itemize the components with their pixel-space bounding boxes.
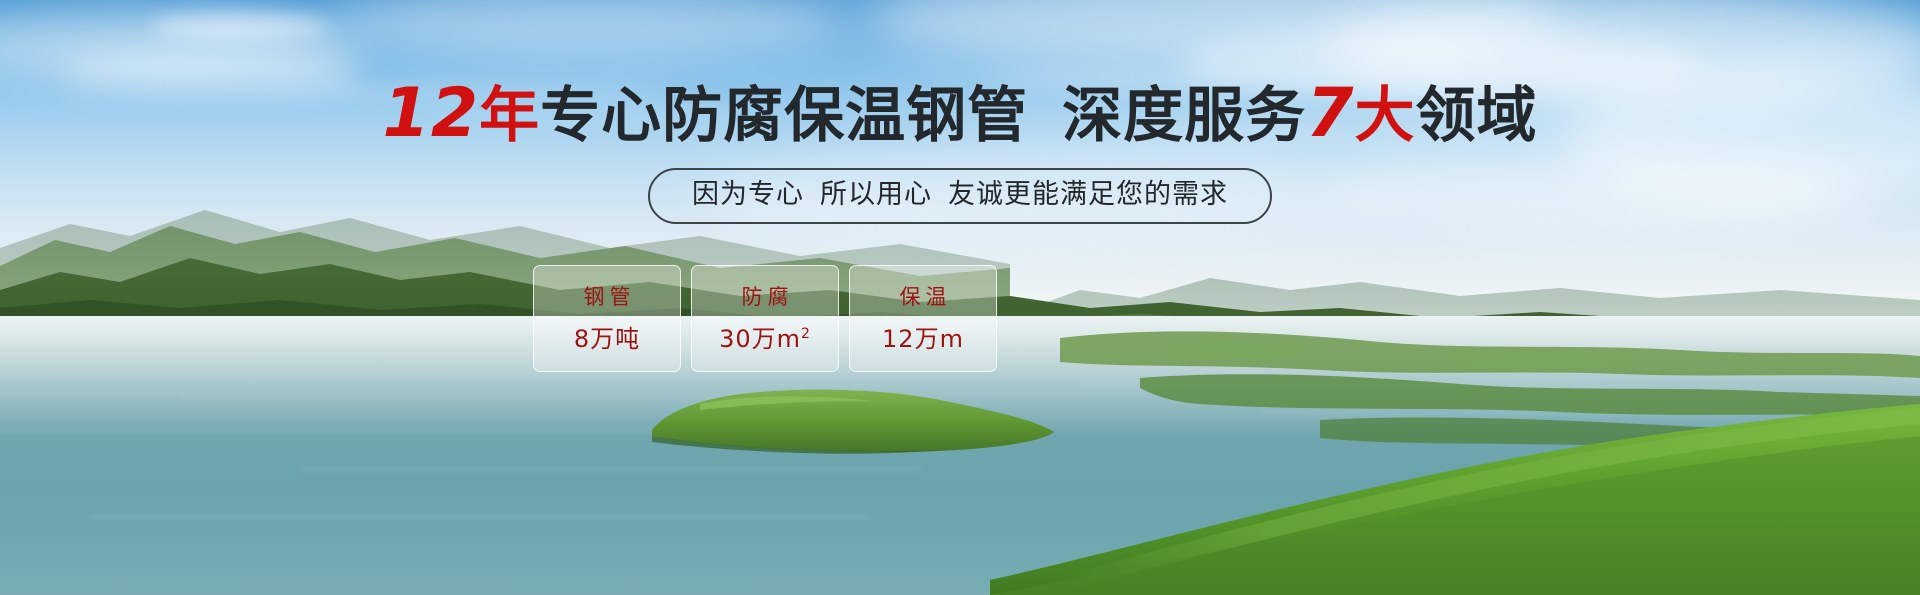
banner-subtitle-pill: 因为专心所以用心友诚更能满足您的需求	[648, 168, 1272, 224]
headline-part-3: 领域	[1415, 81, 1537, 151]
water-ripple	[300, 468, 920, 470]
stat-card-value-text: 30万m	[719, 325, 801, 353]
water-ripple	[40, 372, 460, 374]
banner-headline: 12年专心防腐保温钢管深度服务7大领域	[0, 82, 1920, 148]
stat-card-title: 钢管	[579, 285, 636, 309]
water-ripple	[0, 430, 700, 432]
stat-card-value-text: 8万吨	[574, 325, 640, 353]
stat-card-value-text: 12万m	[882, 325, 964, 353]
cloud-icon	[150, 14, 330, 40]
subtitle-segment-3: 友诚更能满足您的需求	[948, 179, 1228, 210]
hero-banner: 12年专心防腐保温钢管深度服务7大领域 因为专心所以用心友诚更能满足您的需求 钢…	[0, 0, 1920, 595]
stat-card-insulation: 保温 12万m	[849, 265, 997, 372]
subtitle-segment-2: 所以用心	[820, 179, 932, 210]
headline-years-unit: 年	[479, 81, 540, 151]
stat-card-title: 防腐	[737, 285, 794, 309]
stat-card-value: 12万m	[882, 321, 964, 353]
stat-card-title: 保温	[895, 285, 952, 309]
headline-count-unit: 大	[1354, 81, 1415, 151]
stat-card-steel-pipe: 钢管 8万吨	[533, 265, 681, 372]
stat-card-value: 30万m2	[719, 321, 811, 353]
water-ripple	[90, 516, 870, 518]
headline-count-number: 7	[1306, 74, 1354, 153]
foreground-grass	[990, 390, 1920, 595]
subtitle-segment-1: 因为专心	[692, 179, 804, 210]
headline-part-1: 专心防腐保温钢管	[540, 81, 1028, 151]
stat-card-anticorrosion: 防腐 30万m2	[691, 265, 839, 372]
stat-card-value: 8万吨	[574, 321, 640, 353]
headline-part-2: 深度服务	[1062, 81, 1306, 151]
stat-card-value-sup: 2	[801, 326, 811, 342]
headline-years-number: 12	[383, 74, 480, 153]
stat-card-group: 钢管 8万吨 防腐 30万m2 保温 12万m	[533, 265, 997, 372]
